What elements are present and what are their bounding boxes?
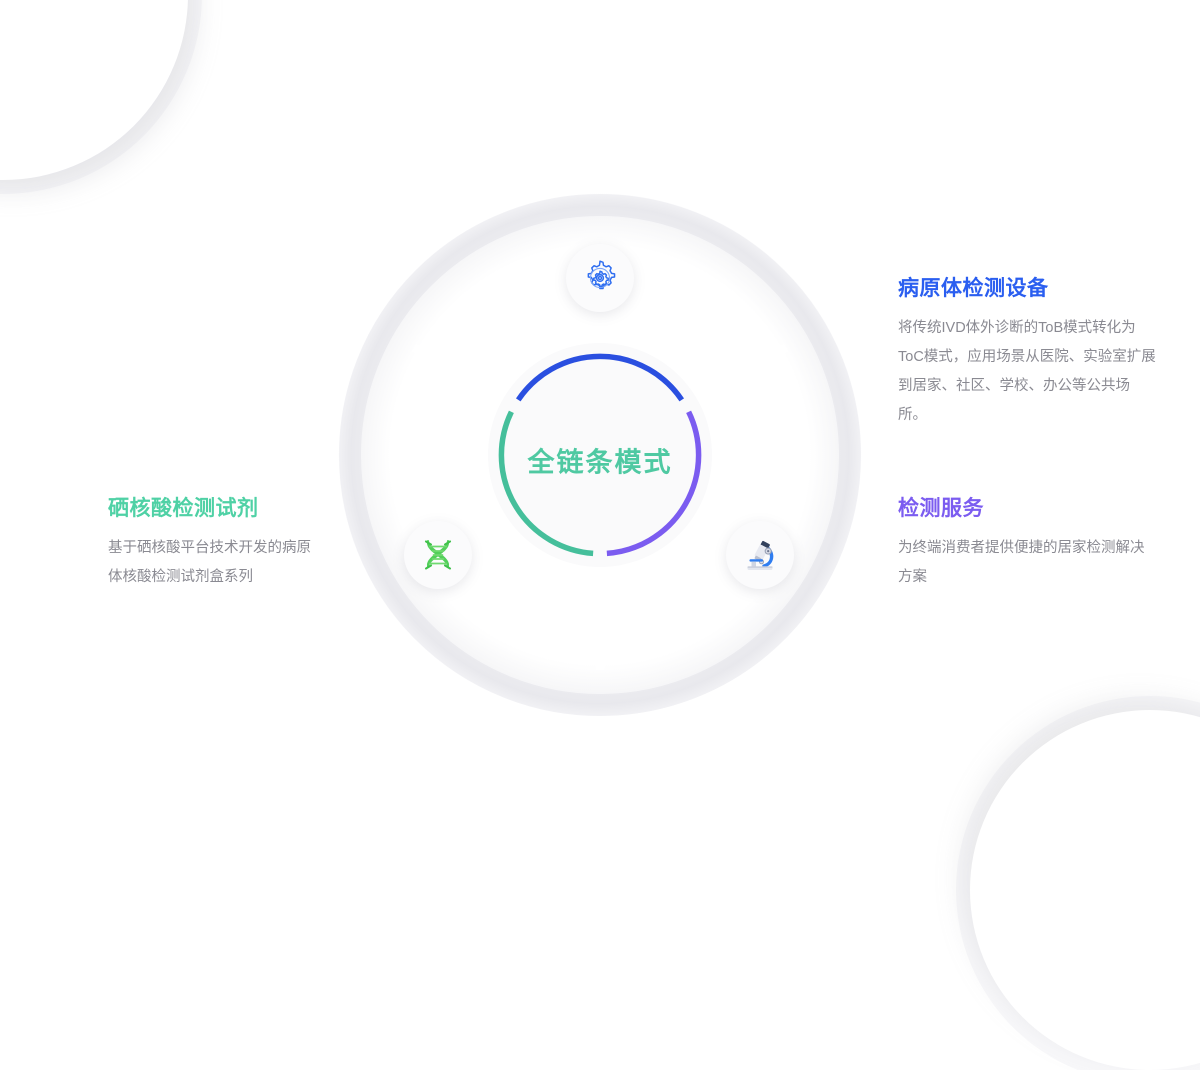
decorative-circle-bottom-right	[970, 710, 1200, 1070]
gear-icon-bubble[interactable]	[566, 244, 634, 312]
decorative-circle-top-left	[0, 0, 188, 180]
service-title: 检测服务	[898, 492, 1156, 522]
text-block-reagent: 硒核酸检测试剂 基于硒核酸平台技术开发的病原体核酸检测试剂盒系列	[108, 492, 320, 592]
dna-icon-bubble[interactable]	[404, 521, 472, 589]
equipment-title: 病原体检测设备	[898, 272, 1156, 302]
equipment-body: 将传统IVD体外诊断的ToB模式转化为ToC模式，应用场景从医院、实验室扩展到居…	[898, 314, 1156, 430]
microscope-icon	[740, 535, 780, 575]
dna-icon	[419, 536, 457, 574]
text-block-service: 检测服务 为终端消费者提供便捷的居家检测解决方案	[898, 492, 1156, 592]
infographic-canvas: 全链条模式 病原体检测设备 将传统IVD体外诊断的ToB模式转化为ToC模式，应…	[0, 0, 1200, 900]
service-body: 为终端消费者提供便捷的居家检测解决方案	[898, 534, 1156, 592]
center-label: 全链条模式	[528, 441, 673, 480]
text-block-equipment: 病原体检测设备 将传统IVD体外诊断的ToB模式转化为ToC模式，应用场景从医院…	[898, 272, 1156, 430]
gear-icon	[580, 258, 620, 298]
reagent-title: 硒核酸检测试剂	[108, 492, 320, 522]
reagent-body: 基于硒核酸平台技术开发的病原体核酸检测试剂盒系列	[108, 534, 320, 592]
microscope-icon-bubble[interactable]	[726, 521, 794, 589]
